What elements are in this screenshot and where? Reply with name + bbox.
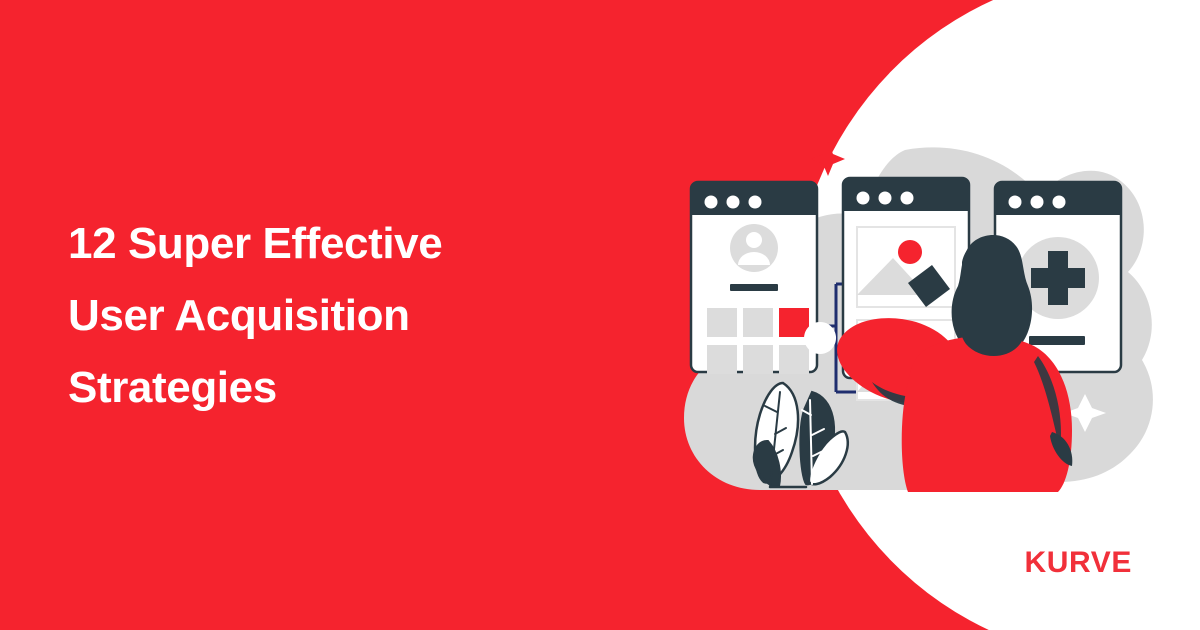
page-title: 12 Super Effective User Acquisition Stra… <box>68 208 628 424</box>
brand-logo: KURVE <box>1025 548 1132 578</box>
share-card-canvas: 12 Super Effective User Acquisition Stra… <box>0 0 1200 630</box>
